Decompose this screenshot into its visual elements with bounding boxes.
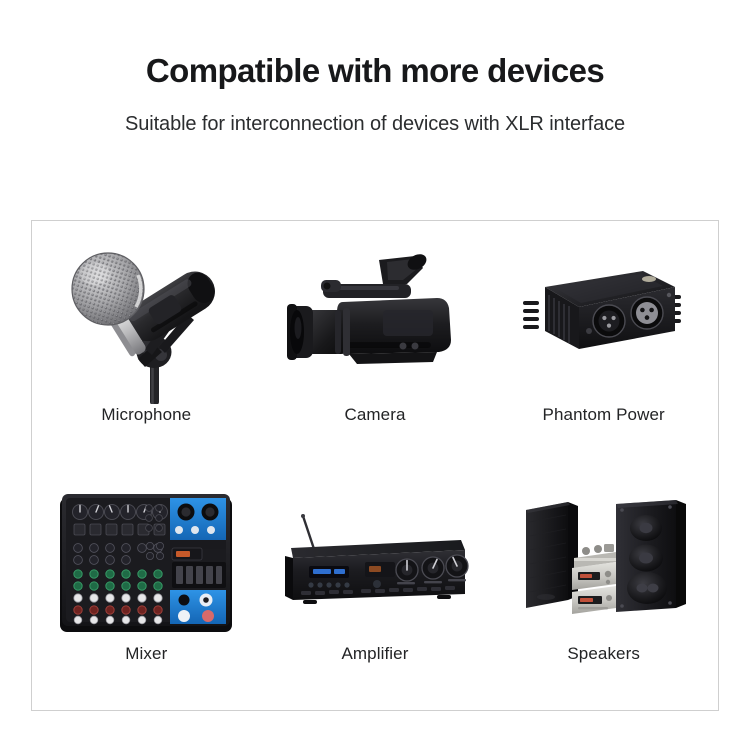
device-grid: Microphone: [32, 221, 718, 710]
amplifier-figure: [261, 476, 490, 644]
phantom-power-icon: [509, 251, 699, 381]
device-cell-mixer[interactable]: Mixer: [32, 466, 261, 711]
device-label-camera: Camera: [344, 405, 405, 425]
audio-mixer-icon: [46, 484, 246, 636]
camera-figure: [261, 227, 490, 405]
device-cell-amplifier[interactable]: Amplifier: [261, 466, 490, 711]
page-subtitle: Suitable for interconnection of devices …: [0, 90, 750, 136]
device-cell-phantom-power[interactable]: Phantom Power: [489, 221, 718, 466]
device-cell-speakers[interactable]: Speakers: [489, 466, 718, 711]
phantom-power-figure: [489, 227, 718, 405]
device-label-mixer: Mixer: [125, 644, 167, 664]
mixer-figure: [32, 476, 261, 644]
speakers-icon: [514, 492, 694, 627]
amplifier-icon: [275, 500, 475, 620]
speakers-figure: [489, 476, 718, 644]
compatible-devices-card: Microphone: [31, 220, 719, 711]
device-label-amplifier: Amplifier: [341, 644, 408, 664]
microphone-figure: [32, 227, 261, 405]
device-cell-microphone[interactable]: Microphone: [32, 221, 261, 466]
device-cell-camera[interactable]: Camera: [261, 221, 490, 466]
device-label-speakers: Speakers: [567, 644, 640, 664]
device-label-microphone: Microphone: [101, 405, 191, 425]
camcorder-icon: [275, 236, 475, 396]
page-header: Compatible with more devices Suitable fo…: [0, 0, 750, 136]
microphone-icon: [46, 229, 246, 404]
device-label-phantom-power: Phantom Power: [543, 405, 665, 425]
page-title: Compatible with more devices: [0, 52, 750, 90]
